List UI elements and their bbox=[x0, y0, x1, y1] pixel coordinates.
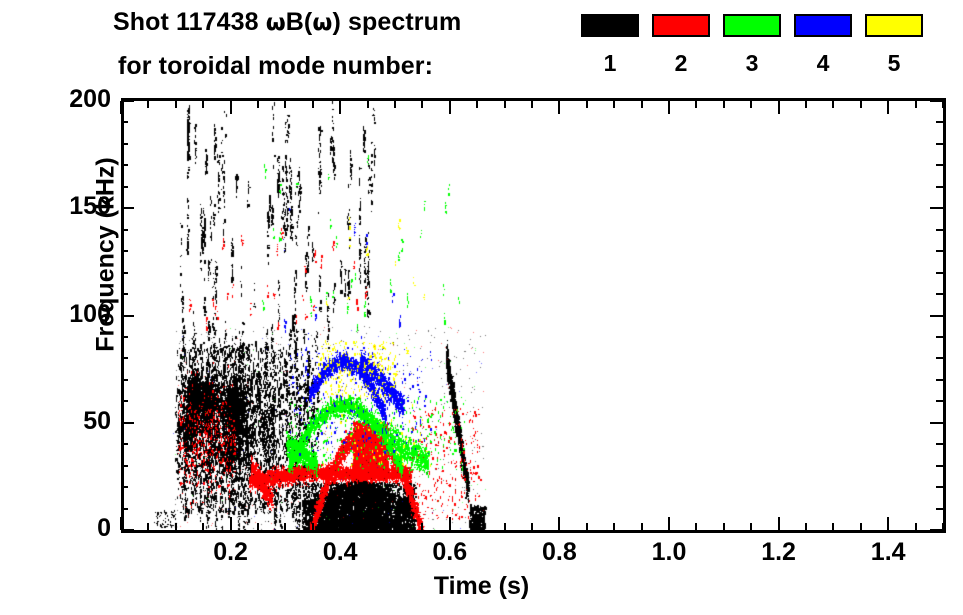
x-tick bbox=[230, 517, 232, 530]
title-text-pre: Shot 117438 bbox=[113, 8, 266, 36]
y-tick bbox=[121, 121, 128, 123]
y-tick bbox=[121, 486, 128, 488]
y-tick bbox=[121, 207, 134, 209]
x-tick-label: 1.4 bbox=[843, 538, 933, 567]
x-tick-top bbox=[504, 101, 506, 108]
x-tick-top bbox=[832, 101, 834, 108]
y-tick bbox=[121, 272, 128, 274]
x-tick-label: 0.8 bbox=[514, 538, 604, 567]
y-tick-right bbox=[930, 422, 943, 424]
x-tick bbox=[805, 523, 807, 530]
omega-symbol-1: ω bbox=[266, 10, 286, 36]
x-tick-top bbox=[257, 101, 259, 108]
y-tick-right bbox=[936, 229, 943, 231]
plot-frame-right bbox=[943, 98, 946, 530]
y-tick bbox=[121, 186, 128, 188]
y-tick-right bbox=[936, 336, 943, 338]
legend-label-5: 5 bbox=[865, 50, 923, 77]
x-tick bbox=[284, 523, 286, 530]
spectrogram-figure: Shot 117438 ωB(ω) spectrum for toroidal … bbox=[0, 0, 963, 615]
x-tick-top bbox=[778, 101, 780, 114]
x-tick bbox=[695, 523, 697, 530]
x-tick-label: 1.2 bbox=[734, 538, 824, 567]
legend-label-3: 3 bbox=[723, 50, 781, 77]
y-tick-right bbox=[936, 293, 943, 295]
legend-swatch-2 bbox=[652, 14, 710, 37]
x-tick bbox=[202, 523, 204, 530]
x-tick-top bbox=[531, 101, 533, 108]
omega-symbol-2: ω bbox=[312, 10, 332, 36]
y-tick bbox=[121, 315, 134, 317]
y-tick-right bbox=[936, 465, 943, 467]
legend-swatch-3 bbox=[723, 14, 781, 37]
y-tick-right bbox=[936, 508, 943, 510]
x-tick bbox=[476, 523, 478, 530]
y-tick bbox=[121, 229, 128, 231]
x-tick-top bbox=[175, 101, 177, 108]
x-tick-top bbox=[147, 101, 149, 108]
x-tick-top bbox=[641, 101, 643, 108]
y-tick bbox=[121, 357, 128, 359]
legend-item-2[interactable]: 2 bbox=[652, 14, 710, 37]
legend-swatch-1 bbox=[581, 14, 639, 37]
x-tick-top bbox=[723, 101, 725, 108]
x-tick-label: 1.0 bbox=[624, 538, 714, 567]
x-tick-top bbox=[449, 101, 451, 114]
x-tick-top bbox=[860, 101, 862, 108]
x-tick-top bbox=[668, 101, 670, 114]
x-tick-label: 0.2 bbox=[186, 538, 276, 567]
x-tick bbox=[750, 523, 752, 530]
x-tick-top bbox=[805, 101, 807, 108]
x-tick bbox=[421, 523, 423, 530]
x-tick-top bbox=[750, 101, 752, 108]
x-tick-top bbox=[421, 101, 423, 108]
x-tick-top bbox=[120, 101, 122, 114]
y-tick-right bbox=[930, 315, 943, 317]
x-tick bbox=[504, 523, 506, 530]
y-tick bbox=[121, 529, 134, 531]
y-tick-right bbox=[936, 164, 943, 166]
x-tick bbox=[586, 523, 588, 530]
x-tick bbox=[887, 517, 889, 530]
x-tick bbox=[558, 517, 560, 530]
y-tick bbox=[121, 143, 128, 145]
x-tick bbox=[312, 523, 314, 530]
y-tick-label: 100 bbox=[39, 300, 111, 329]
legend-item-1[interactable]: 1 bbox=[581, 14, 639, 37]
y-tick-right bbox=[930, 529, 943, 531]
y-tick bbox=[121, 400, 128, 402]
y-tick-right bbox=[936, 357, 943, 359]
y-tick-right bbox=[936, 250, 943, 252]
x-tick-top bbox=[586, 101, 588, 108]
x-tick bbox=[367, 523, 369, 530]
x-tick bbox=[668, 517, 670, 530]
x-tick-top bbox=[339, 101, 341, 114]
y-tick-right bbox=[936, 486, 943, 488]
x-tick-top bbox=[613, 101, 615, 108]
x-tick-top bbox=[887, 101, 889, 114]
legend-item-3[interactable]: 3 bbox=[723, 14, 781, 37]
x-tick bbox=[175, 523, 177, 530]
legend-swatch-4 bbox=[794, 14, 852, 37]
y-tick-right bbox=[936, 143, 943, 145]
y-tick-label: 0 bbox=[39, 514, 111, 543]
y-tick-right bbox=[936, 379, 943, 381]
y-tick-right bbox=[936, 443, 943, 445]
x-tick bbox=[778, 517, 780, 530]
figure-title-line-2: for toroidal mode number: bbox=[118, 52, 433, 81]
x-tick bbox=[860, 523, 862, 530]
y-tick-right bbox=[936, 186, 943, 188]
y-tick bbox=[121, 100, 134, 102]
x-tick bbox=[915, 523, 917, 530]
x-tick-top bbox=[312, 101, 314, 108]
x-tick-top bbox=[202, 101, 204, 108]
y-axis-label: Frequency (kHz) bbox=[92, 135, 121, 375]
y-tick bbox=[121, 379, 128, 381]
x-tick-top bbox=[558, 101, 560, 114]
legend-item-4[interactable]: 4 bbox=[794, 14, 852, 37]
legend-label-1: 1 bbox=[581, 50, 639, 77]
x-tick bbox=[394, 523, 396, 530]
x-tick bbox=[339, 517, 341, 530]
x-tick-top bbox=[230, 101, 232, 114]
x-tick bbox=[449, 517, 451, 530]
title-text-mid: B( bbox=[286, 8, 313, 36]
plot-frame-top bbox=[121, 98, 946, 101]
x-tick bbox=[723, 523, 725, 530]
x-tick bbox=[613, 523, 615, 530]
x-tick-top bbox=[476, 101, 478, 108]
legend-swatch-5 bbox=[865, 14, 923, 37]
x-axis-label: Time (s) bbox=[0, 572, 963, 601]
x-tick bbox=[832, 523, 834, 530]
title-text-post: ) spectrum bbox=[332, 8, 461, 36]
legend-label-2: 2 bbox=[652, 50, 710, 77]
y-tick-right bbox=[936, 400, 943, 402]
y-tick bbox=[121, 465, 128, 467]
x-tick bbox=[641, 523, 643, 530]
x-tick-label: 0.6 bbox=[405, 538, 495, 567]
x-tick-top bbox=[284, 101, 286, 108]
y-tick-label: 200 bbox=[39, 85, 111, 114]
y-tick bbox=[121, 443, 128, 445]
y-tick-right bbox=[930, 100, 943, 102]
y-tick bbox=[121, 293, 128, 295]
x-tick bbox=[531, 523, 533, 530]
y-tick-right bbox=[936, 121, 943, 123]
y-tick-right bbox=[936, 272, 943, 274]
y-tick bbox=[121, 422, 134, 424]
y-tick bbox=[121, 164, 128, 166]
legend-label-4: 4 bbox=[794, 50, 852, 77]
y-tick-label: 150 bbox=[39, 192, 111, 221]
spectrogram-canvas bbox=[124, 101, 946, 530]
x-tick-label: 0.4 bbox=[295, 538, 385, 567]
plot-area bbox=[121, 101, 946, 533]
y-tick-label: 50 bbox=[39, 407, 111, 436]
x-tick-top bbox=[695, 101, 697, 108]
x-tick-top bbox=[394, 101, 396, 108]
x-tick bbox=[147, 523, 149, 530]
y-tick bbox=[121, 508, 128, 510]
y-tick bbox=[121, 336, 128, 338]
x-tick bbox=[257, 523, 259, 530]
legend-item-5[interactable]: 5 bbox=[865, 14, 923, 37]
x-tick-top bbox=[367, 101, 369, 108]
figure-title-line-1: Shot 117438 ωB(ω) spectrum bbox=[113, 8, 461, 37]
x-tick-top bbox=[915, 101, 917, 108]
y-tick-right bbox=[930, 207, 943, 209]
y-tick bbox=[121, 250, 128, 252]
